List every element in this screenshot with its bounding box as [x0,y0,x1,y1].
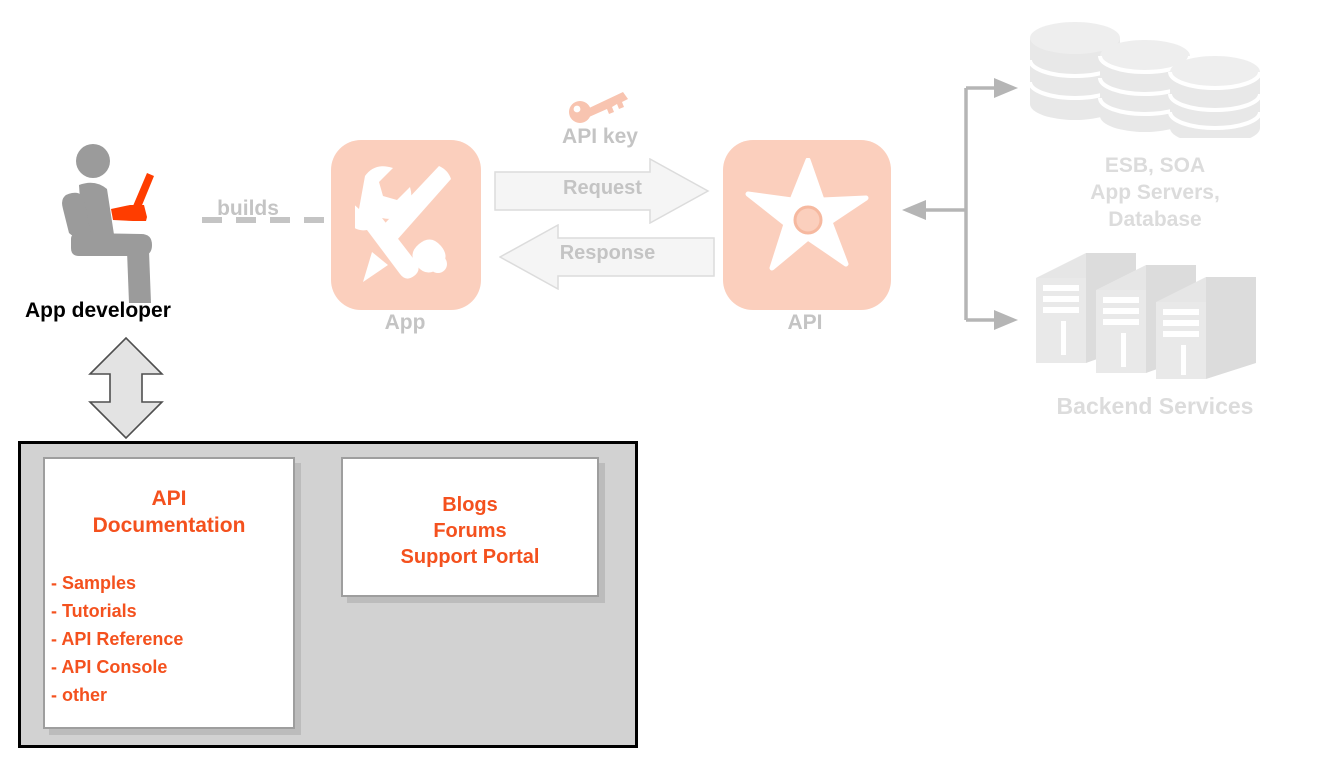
key-icon [568,88,630,124]
list-item[interactable]: - API Reference [51,625,293,653]
list-item[interactable]: - API Console [51,653,293,681]
builds-dashed-connector [200,213,330,227]
database-label: ESB, SOA App Servers, Database [1020,152,1290,233]
arrow-head-api [902,200,926,220]
community-line-3[interactable]: Support Portal [343,544,597,570]
list-item[interactable]: - Samples [51,569,293,597]
server-rack-icon [1034,245,1264,380]
api-documentation-list: - Samples - Tutorials - API Reference - … [51,569,293,709]
database-stack-icon [1022,16,1288,138]
backend-connectors [890,70,1030,340]
list-item[interactable]: - other [51,681,293,709]
developer-icon [55,143,205,303]
community-line-2[interactable]: Forums [343,518,597,544]
list-item[interactable]: - Tutorials [51,597,293,625]
developer-label: App developer [25,299,235,323]
community-card-text: Blogs Forums Support Portal [343,492,597,570]
api-documentation-title: API Documentation [45,485,293,539]
api-starburst-icon [740,158,876,292]
doc-title-line-2: Documentation [45,512,293,539]
arrow-head-database [994,78,1018,98]
request-label: Request [495,177,710,200]
doc-title-line-1: API [45,485,293,512]
community-card[interactable]: Blogs Forums Support Portal [341,457,599,597]
database-label-line-3: Database [1020,206,1290,233]
diagram-canvas: App developer builds App API key Request [0,0,1338,770]
api-documentation-card[interactable]: API Documentation - Samples - Tutorials … [43,457,295,729]
api-label: API [755,311,855,335]
double-headed-vertical-arrow-icon [86,336,166,440]
laptop-icon [111,173,154,221]
arrow-head-services [994,310,1018,330]
backend-services-label: Backend Services [1000,393,1310,420]
wrench-and-pencil-icon [355,162,459,288]
database-label-line-2: App Servers, [1020,179,1290,206]
community-line-1[interactable]: Blogs [343,492,597,518]
app-label: App [355,311,455,335]
developer-portal-panel: API Documentation - Samples - Tutorials … [18,441,638,748]
api-key-label: API key [525,125,675,149]
database-label-line-1: ESB, SOA [1020,152,1290,179]
response-label: Response [500,242,715,265]
